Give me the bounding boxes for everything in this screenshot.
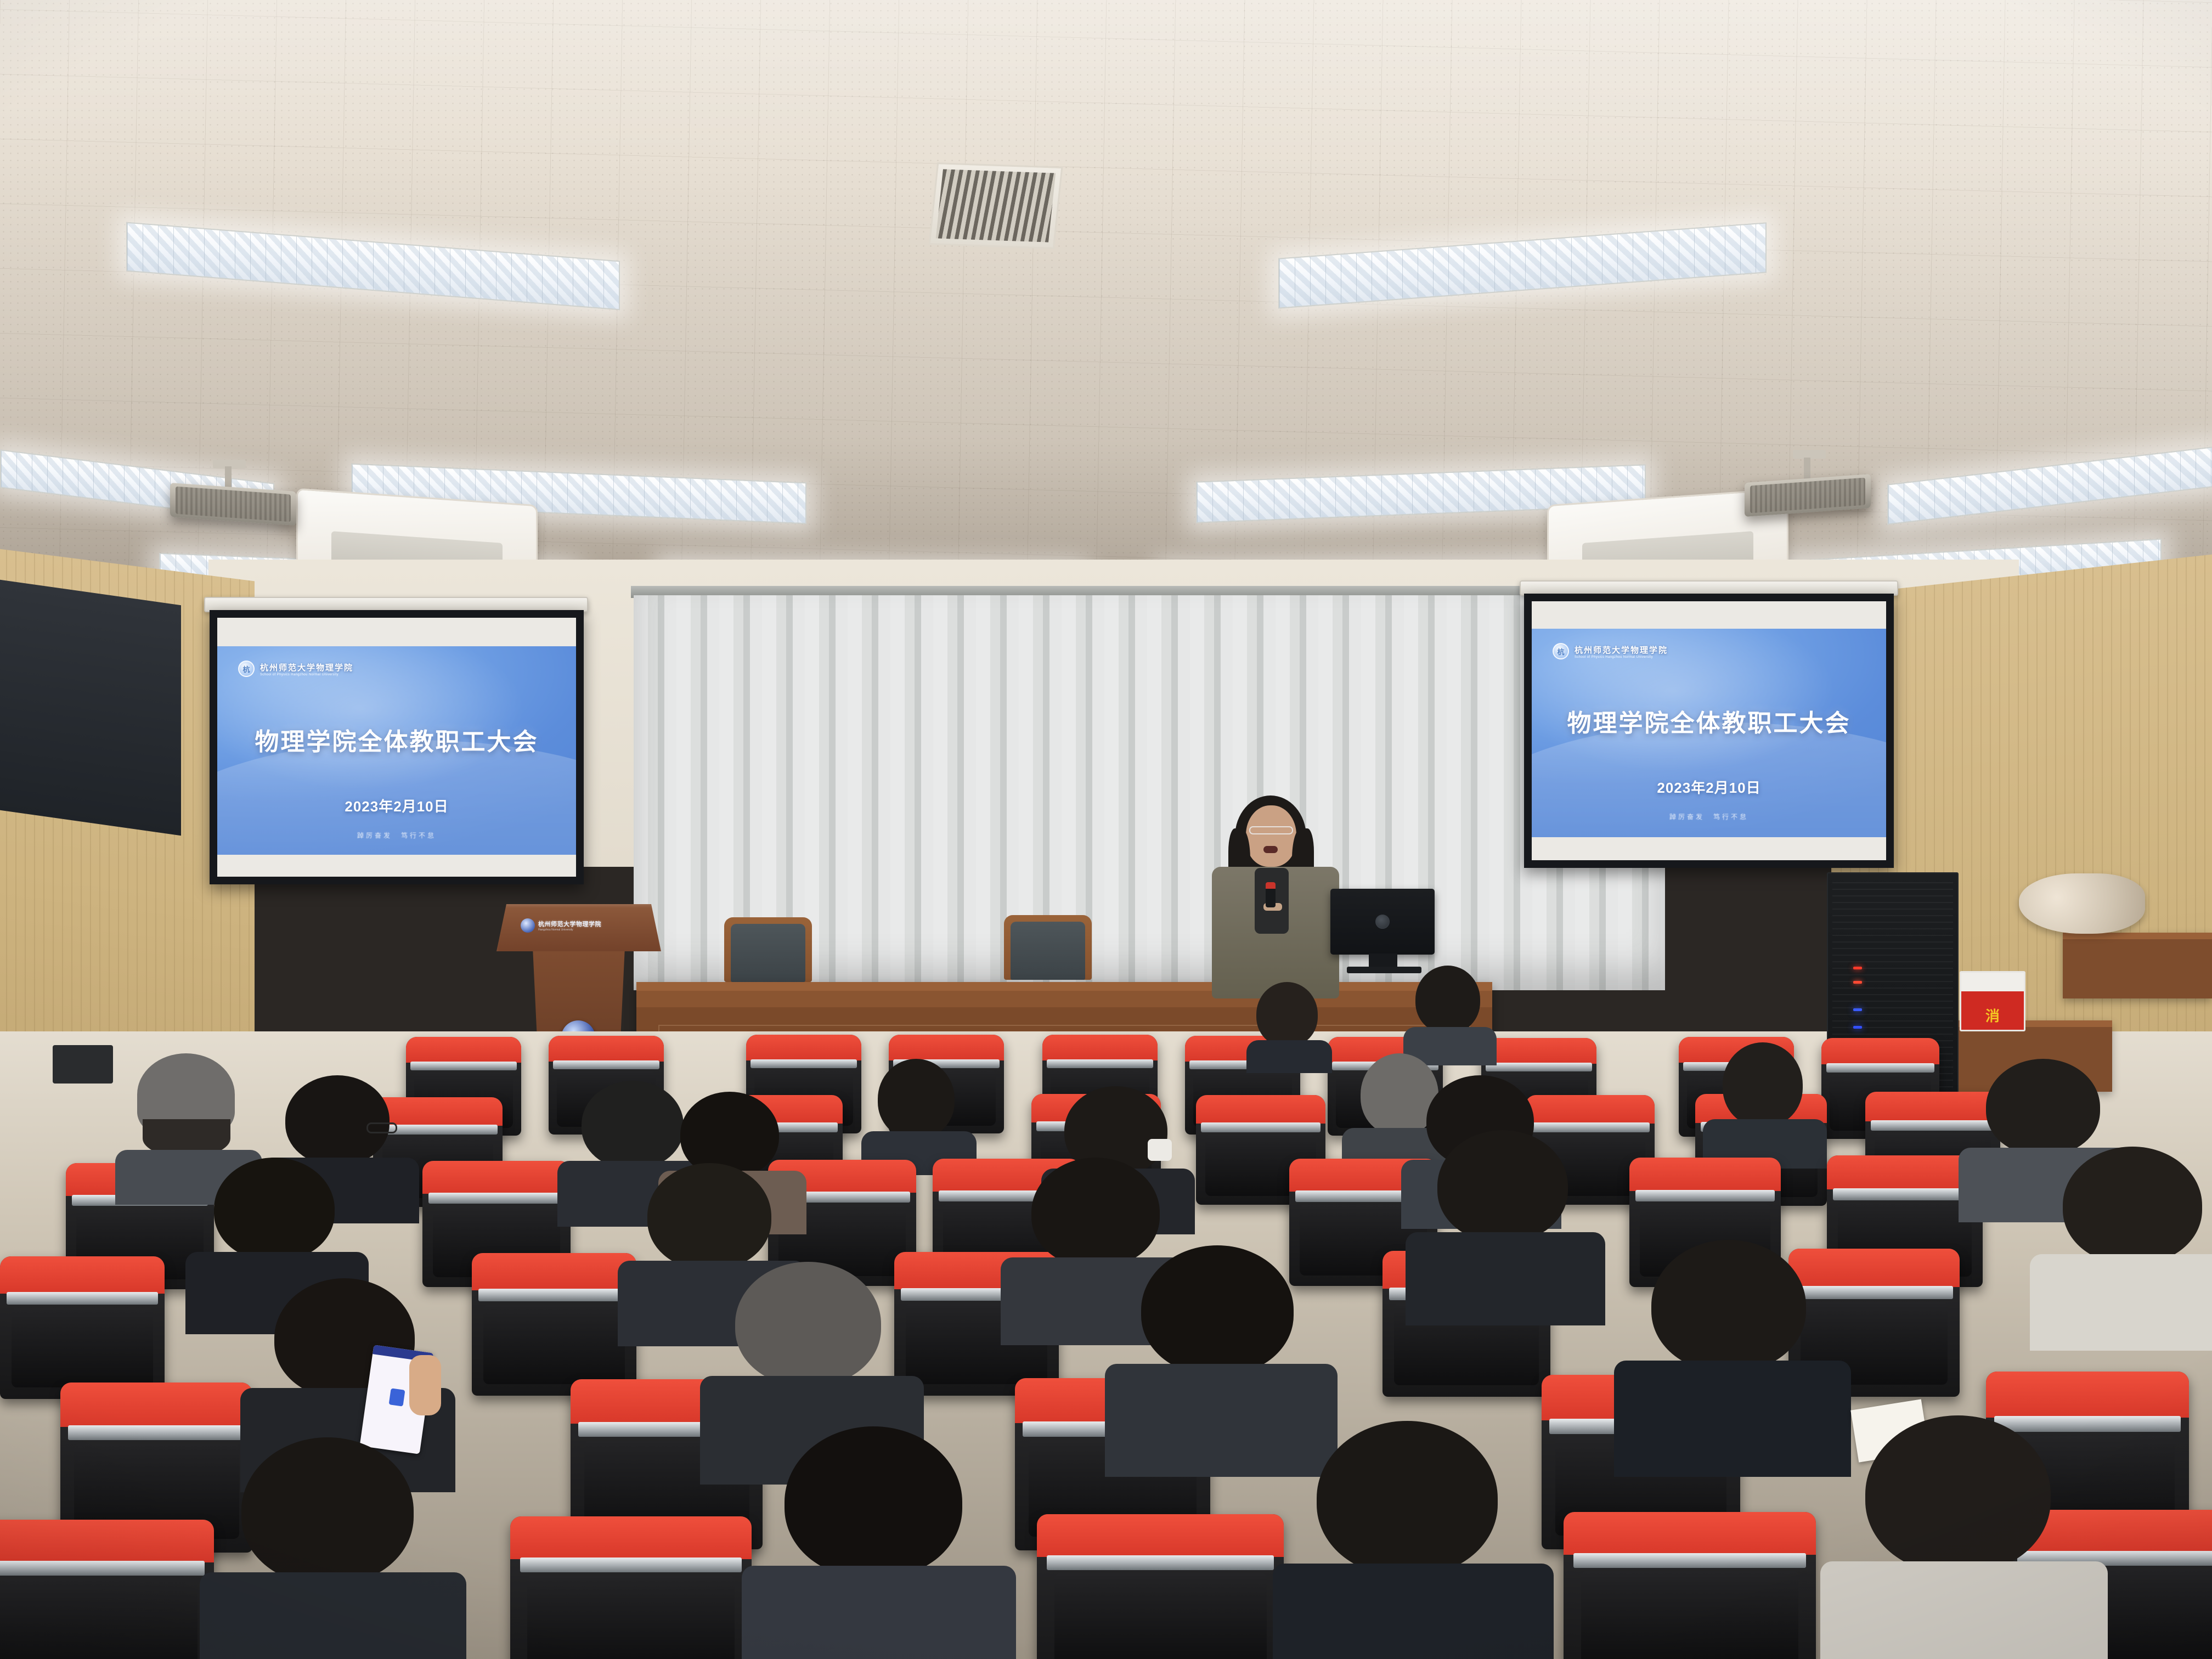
attendee	[1256, 982, 1322, 1064]
right-slide: 杭 杭州师范大学物理学院 School of Physics Hangzhou …	[1532, 629, 1886, 837]
attendee	[1865, 1415, 2061, 1659]
speaker	[1204, 795, 1347, 993]
side-table	[2063, 933, 2212, 998]
attendee	[1317, 1421, 1508, 1659]
glasses-icon	[1249, 826, 1293, 834]
ceiling-vent-icon	[929, 162, 1063, 249]
attendee	[735, 1262, 889, 1454]
stage-chair[interactable]	[724, 917, 812, 982]
rack-led-red	[1853, 981, 1862, 984]
slide-university-name-en: School of Physics Hangzhou Normal Univer…	[260, 673, 353, 676]
podium-emblem-icon	[521, 918, 535, 933]
attendee	[785, 1426, 971, 1659]
slide-university-name-cn: 杭州师范大学物理学院	[1575, 644, 1668, 656]
auditorium-photo: 杭 杭州师范大学物理学院 School of Physics Hangzhou …	[0, 0, 2212, 1659]
seat[interactable]	[0, 1520, 214, 1659]
slide-date: 2023年2月10日	[217, 795, 576, 816]
floor-speaker-box	[53, 1045, 113, 1084]
slide-logo-row: 杭 杭州师范大学物理学院 School of Physics Hangzhou …	[1553, 643, 1668, 659]
seat[interactable]	[472, 1253, 636, 1396]
microphone-icon	[1266, 882, 1276, 907]
left-window-band	[0, 580, 181, 836]
attendee	[1437, 1130, 1575, 1306]
seat[interactable]	[510, 1516, 752, 1659]
attendee	[1723, 1042, 1808, 1158]
projector-arm-left	[225, 466, 232, 488]
attendee	[878, 1059, 960, 1163]
attendee	[1651, 1240, 1814, 1441]
left-screen[interactable]: 杭 杭州师范大学物理学院 School of Physics Hangzhou …	[210, 610, 584, 884]
rack-led-blue	[1853, 1026, 1862, 1029]
dell-monitor	[1330, 889, 1435, 955]
slide-tagline: 踔厉奋发 笃行不怠	[1532, 812, 1886, 821]
projector-arm-right	[1804, 458, 1810, 479]
right-screen-surface: 杭 杭州师范大学物理学院 School of Physics Hangzhou …	[1532, 601, 1886, 860]
fire-equipment-box: 消	[1960, 971, 2025, 1031]
attendee	[241, 1437, 422, 1659]
podium-name-cn: 杭州师范大学物理学院	[538, 919, 601, 928]
attendee	[2063, 1147, 2210, 1328]
slide-university-name-cn: 杭州师范大学物理学院	[260, 662, 353, 673]
stage-chair[interactable]	[1004, 915, 1092, 980]
desk-clutter	[2019, 873, 2145, 934]
slide-logo-row: 杭 杭州师范大学物理学院 School of Physics Hangzhou …	[238, 661, 353, 677]
attendee-with-phone	[274, 1278, 422, 1465]
slide-tagline: 踔厉奋发 笃行不怠	[217, 831, 576, 840]
seat[interactable]	[1037, 1514, 1284, 1659]
right-screen[interactable]: 杭 杭州师范大学物理学院 School of Physics Hangzhou …	[1524, 594, 1894, 868]
monitor-base	[1347, 967, 1421, 973]
dell-logo-icon	[1375, 915, 1390, 929]
seat[interactable]	[0, 1256, 165, 1399]
left-screen-surface: 杭 杭州师范大学物理学院 School of Physics Hangzhou …	[217, 618, 576, 877]
slide-date: 2023年2月10日	[1532, 777, 1886, 797]
university-seal-icon: 杭	[238, 661, 255, 677]
seat[interactable]	[1564, 1512, 1816, 1659]
left-slide: 杭 杭州师范大学物理学院 School of Physics Hangzhou …	[217, 646, 576, 855]
slide-title: 物理学院全体教职工大会	[1532, 703, 1886, 738]
rack-led-red	[1853, 967, 1862, 969]
slide-university-name-en: School of Physics Hangzhou Normal Univer…	[1575, 656, 1668, 659]
attendee	[1141, 1245, 1301, 1443]
glasses-icon	[366, 1122, 397, 1133]
slide-title: 物理学院全体教职工大会	[217, 722, 576, 757]
university-seal-icon: 杭	[1553, 643, 1569, 659]
hand	[409, 1355, 441, 1415]
attendee	[1415, 966, 1487, 1059]
rack-led-blue	[1853, 1008, 1862, 1011]
fire-box-mark: 消	[1961, 1005, 2024, 1025]
podium-name-en: Hangzhou Normal University	[538, 928, 601, 932]
vent-slats	[936, 169, 1056, 242]
podium-nameplate: 杭州师范大学物理学院 Hangzhou Normal University	[521, 916, 630, 935]
